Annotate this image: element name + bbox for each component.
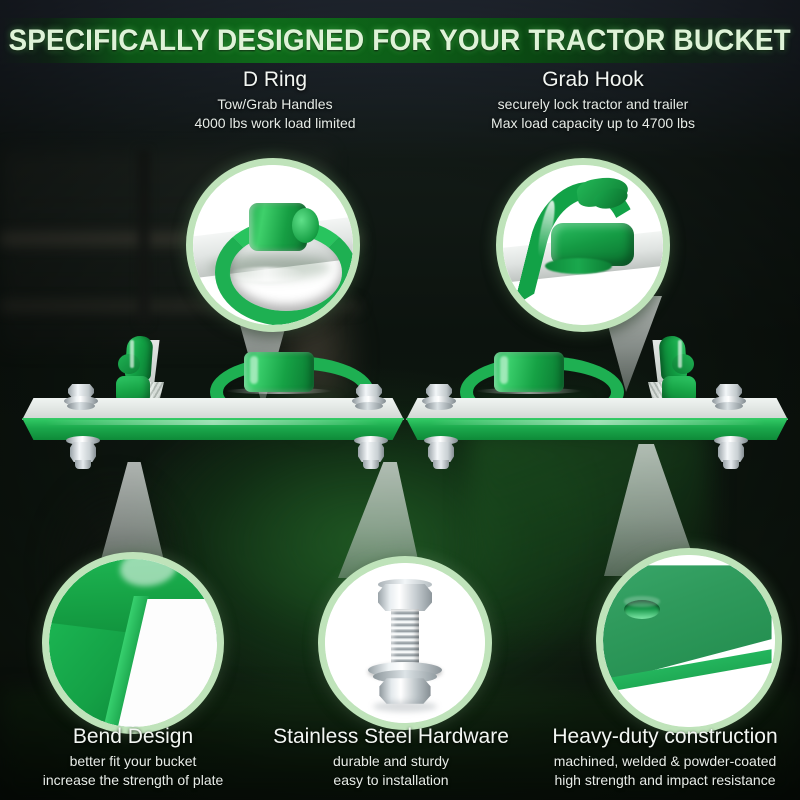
callout-line-bend-2: increase the strength of plate — [18, 771, 248, 789]
green-plate-hole-photo — [603, 555, 775, 727]
callout-line-grab-hook-2: Max load capacity up to 4700 lbs — [452, 114, 734, 132]
bolt-thread-tip — [723, 460, 739, 469]
bolt-hex-nut — [358, 442, 384, 462]
grab-hook-throat — [118, 354, 140, 374]
grab-hook-gloss — [678, 340, 682, 368]
callout-line-bend-1: better fit your bucket — [18, 752, 248, 770]
callout-line-hardware-1: durable and sturdy — [255, 752, 527, 770]
grab-hook-closeup-photo — [503, 165, 663, 325]
callout-line-hardware-2: easy to installation — [255, 771, 527, 789]
callout-image-stainless-hardware — [318, 556, 492, 730]
mounting-plate-right — [406, 330, 788, 480]
d-ring-highlight — [228, 267, 305, 281]
plate-right-d-ring — [454, 352, 604, 406]
bolt-threaded-shaft — [391, 609, 420, 667]
bolt-upper-left — [422, 384, 456, 414]
callout-image-bend-design — [42, 552, 224, 734]
plate-edge-gloss — [429, 420, 765, 425]
bolt-upper-right — [712, 384, 746, 414]
bolt-hex-nut — [379, 678, 430, 704]
bolt-washer-lower — [67, 402, 95, 410]
bolt-upper-left — [64, 384, 98, 414]
bolt-washer-lower — [355, 402, 383, 410]
heavy-plate-hole-lip — [624, 596, 660, 606]
d-ring-closeup-photo — [193, 165, 353, 325]
bolt-lower-left — [66, 436, 100, 476]
bolt-hex-head — [378, 584, 432, 611]
callout-image-grab-hook — [496, 158, 670, 332]
bolt-thread-tip — [75, 460, 91, 469]
bolt-hex-nut — [718, 442, 744, 462]
grab-hook-gloss — [130, 340, 134, 368]
callout-text-bend-design: Bend Design better fit your bucket incre… — [18, 725, 248, 789]
callout-title-stainless-hardware: Stainless Steel Hardware — [255, 725, 527, 749]
d-ring-boss-gloss — [500, 356, 508, 384]
callout-text-stainless-hardware: Stainless Steel Hardware durable and stu… — [255, 725, 527, 789]
callout-text-grab-hook: Grab Hook securely lock tractor and trai… — [452, 68, 734, 132]
callout-title-grab-hook: Grab Hook — [452, 68, 734, 92]
bolt-hex-nut — [428, 442, 454, 462]
callout-line-heavy-2: high strength and impact resistance — [520, 771, 800, 789]
callout-title-d-ring: D Ring — [150, 68, 400, 92]
stainless-bolt-nut-photo — [325, 563, 485, 723]
callout-text-d-ring: D Ring Tow/Grab Handles 4000 lbs work lo… — [150, 68, 400, 132]
bolt-upper-right — [352, 384, 386, 414]
callout-image-d-ring — [186, 158, 360, 332]
plate-left-d-ring — [204, 352, 354, 406]
bolt-hex-nut — [70, 442, 96, 462]
bolt-lower-left — [424, 436, 458, 476]
callout-line-grab-hook-1: securely lock tractor and trailer — [452, 95, 734, 113]
banner-title: SPECIFICALLY DESIGNED FOR YOUR TRACTOR B… — [9, 24, 791, 58]
bolt-washer-lower — [425, 402, 453, 410]
callout-title-heavy-duty: Heavy-duty construction — [520, 725, 800, 749]
bolt-lower-right — [714, 436, 748, 476]
header-banner: SPECIFICALLY DESIGNED FOR YOUR TRACTOR B… — [0, 18, 800, 63]
infographic-canvas: SPECIFICALLY DESIGNED FOR YOUR TRACTOR B… — [0, 0, 800, 800]
bent-plate-corner-photo — [49, 559, 217, 727]
bolt-thread-tip — [433, 460, 449, 469]
callout-line-d-ring-1: Tow/Grab Handles — [150, 95, 400, 113]
callout-line-d-ring-2: 4000 lbs work load limited — [150, 114, 400, 132]
d-ring-boss-gloss — [250, 356, 258, 384]
plate-edge-gloss — [45, 420, 381, 425]
callout-text-heavy-duty: Heavy-duty construction machined, welded… — [520, 725, 800, 789]
callout-line-heavy-1: machined, welded & powder-coated — [520, 752, 800, 770]
bolt-drop-shadow — [373, 701, 437, 712]
grab-hook-throat — [672, 354, 694, 374]
bolt-washer-lower — [715, 402, 743, 410]
callout-title-bend-design: Bend Design — [18, 725, 248, 749]
callout-image-heavy-duty — [596, 548, 782, 734]
mounting-plate-left — [22, 330, 404, 480]
